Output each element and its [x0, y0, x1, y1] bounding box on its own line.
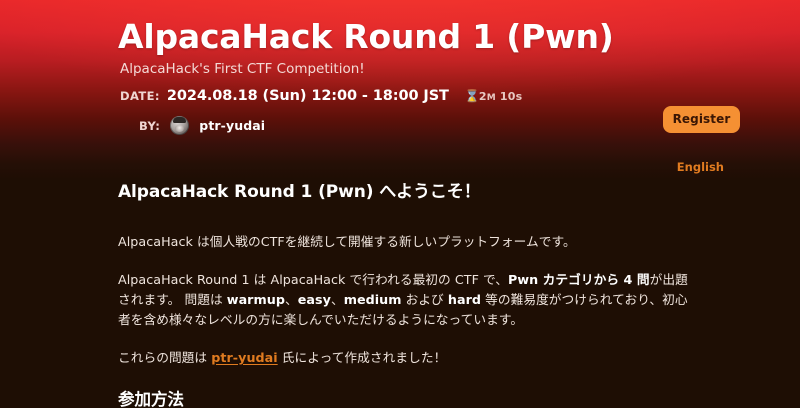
page-root: AlpacaHack Round 1 (Pwn) AlpacaHack's Fi… [0, 0, 800, 408]
author-profile-link[interactable]: ptr-yudai [211, 350, 277, 365]
difficulty-hard: hard [448, 292, 481, 307]
difficulty-medium: medium [344, 292, 402, 307]
participation-heading: 参加方法 [118, 368, 694, 408]
register-button[interactable]: Register [663, 106, 740, 133]
difficulty-easy: easy [298, 292, 331, 307]
countdown-text: 2M 10s [479, 90, 523, 103]
hero-content: AlpacaHack Round 1 (Pwn) AlpacaHack's Fi… [118, 0, 740, 180]
countdown-minutes: 2 [479, 90, 487, 103]
hero-subtitle: AlpacaHack's First CTF Competition! [120, 60, 365, 78]
difficulty-warmup: warmup [227, 292, 285, 307]
author-name[interactable]: ptr-yudai [199, 118, 265, 133]
event-date-row: DATE: 2024.08.18 (Sun) 12:00 - 18:00 JST… [120, 88, 522, 104]
credit-paragraph: これらの問題は ptr-yudai 氏によって作成されました！ [118, 348, 694, 368]
date-label: DATE: [120, 89, 160, 103]
desc-bold-category: Pwn カテゴリから 4 問 [508, 272, 650, 287]
page-title: AlpacaHack Round 1 (Pwn) [118, 16, 614, 58]
countdown-seconds: 10s [500, 90, 522, 103]
countdown-timer: ⌛ 2M 10s [465, 90, 523, 103]
event-author-row: BY: ptr-yudai [120, 116, 265, 135]
main-content: AlpacaHack Round 1 (Pwn) へようこそ！ AlpacaHa… [118, 180, 694, 408]
desc-text-1: AlpacaHack Round 1 は AlpacaHack で行われる最初の… [118, 272, 508, 287]
hourglass-icon: ⌛ [465, 90, 474, 103]
credit-text-2: 氏によって作成されました！ [278, 350, 447, 365]
credit-text-1: これらの問題は [118, 350, 211, 365]
intro-paragraph: AlpacaHack は個人戦のCTFを継続して開催する新しいプラットフォームで… [118, 232, 694, 252]
desc-text-5: および [402, 292, 448, 307]
welcome-heading: AlpacaHack Round 1 (Pwn) へようこそ！ [118, 180, 694, 204]
description-paragraph: AlpacaHack Round 1 は AlpacaHack で行われる最初の… [118, 270, 694, 330]
language-switch-link[interactable]: English [677, 160, 724, 174]
avatar [170, 116, 189, 135]
by-label: BY: [139, 119, 160, 133]
date-value: 2024.08.18 (Sun) 12:00 - 18:00 JST [167, 88, 449, 104]
countdown-minutes-unit: M [487, 93, 496, 103]
desc-text-4: 、 [331, 292, 344, 307]
hero-banner: AlpacaHack Round 1 (Pwn) AlpacaHack's Fi… [0, 0, 800, 180]
desc-text-3: 、 [285, 292, 298, 307]
